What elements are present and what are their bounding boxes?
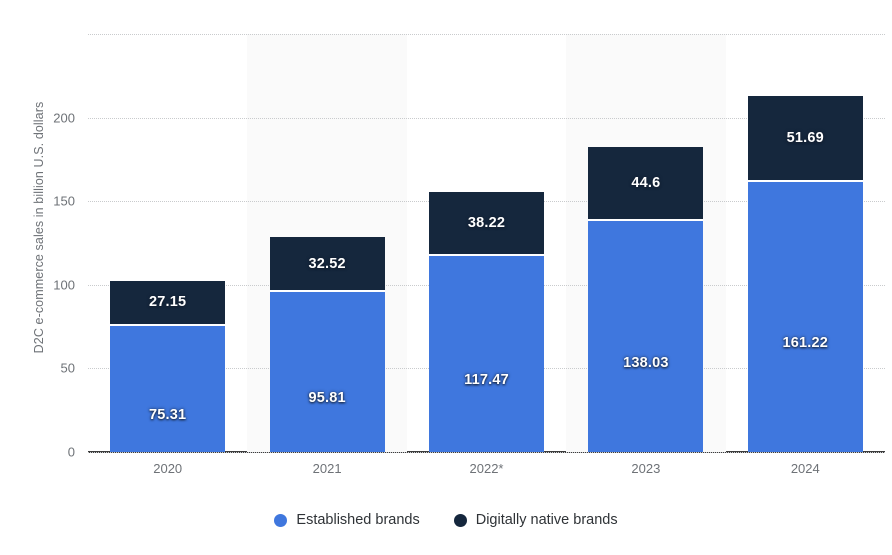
bar-segment-established[interactable]: 161.22: [748, 182, 863, 452]
bar-group-2020[interactable]: 75.3127.15: [110, 34, 225, 452]
legend-label-established: Established brands: [296, 512, 419, 528]
bar-value-label: 38.22: [468, 215, 505, 231]
bar-value-label: 95.81: [308, 390, 345, 406]
y-axis-tick-label: 0: [68, 445, 75, 460]
chart-legend: Established brands Digitally native bran…: [0, 512, 892, 528]
stacked-bar-chart: D2C e-commerce sales in billion U.S. dol…: [0, 0, 892, 555]
bar-segment-digitally-native[interactable]: 32.52: [270, 237, 385, 291]
x-axis-tick-label: 2020: [88, 461, 247, 476]
x-axis-tick-label: 2022*: [407, 461, 566, 476]
y-axis-tick-label: 50: [61, 361, 75, 376]
bar-value-label: 27.15: [149, 294, 186, 310]
bar-segment-digitally-native[interactable]: 51.69: [748, 96, 863, 182]
legend-item-digitally-native[interactable]: Digitally native brands: [454, 512, 618, 528]
bar-value-label: 161.22: [783, 335, 829, 351]
bar-segment-digitally-native[interactable]: 38.22: [429, 192, 544, 256]
bar-value-label: 117.47: [464, 372, 509, 388]
legend-swatch-established-icon: [274, 514, 287, 527]
bar-value-label: 138.03: [623, 355, 669, 371]
y-axis-tick-label: 100: [53, 277, 75, 292]
legend-item-established[interactable]: Established brands: [274, 512, 419, 528]
x-axis-tick-label: 2023: [566, 461, 725, 476]
x-axis-tick-label: 2021: [247, 461, 406, 476]
x-axis-tick-label: 2024: [726, 461, 885, 476]
legend-label-digitally-native: Digitally native brands: [476, 512, 618, 528]
y-axis-tick-label: 150: [53, 194, 75, 209]
bar-value-label: 44.6: [631, 175, 660, 191]
bar-group-2021[interactable]: 95.8132.52: [270, 34, 385, 452]
bar-segment-digitally-native[interactable]: 27.15: [110, 281, 225, 326]
y-axis-title: D2C e-commerce sales in billion U.S. dol…: [26, 0, 52, 455]
bar-segment-established[interactable]: 75.31: [110, 326, 225, 452]
bar-value-label: 75.31: [149, 407, 186, 423]
bar-group-2024[interactable]: 161.2251.69: [748, 34, 863, 452]
bar-group-2023[interactable]: 138.0344.6: [588, 34, 703, 452]
bar-segment-established[interactable]: 95.81: [270, 292, 385, 452]
bar-segment-established[interactable]: 117.47: [429, 256, 544, 452]
y-axis-tick-label: 200: [53, 110, 75, 125]
bar-group-2022[interactable]: 117.4738.22: [429, 34, 544, 452]
bar-segment-established[interactable]: 138.03: [588, 221, 703, 452]
bar-value-label: 51.69: [787, 130, 824, 146]
bar-segment-digitally-native[interactable]: 44.6: [588, 147, 703, 222]
gridline: [88, 452, 885, 453]
plot-area: 05010015020075.3127.1595.8132.52117.4738…: [88, 34, 885, 452]
bar-value-label: 32.52: [308, 256, 345, 272]
legend-swatch-digitally-native-icon: [454, 514, 467, 527]
